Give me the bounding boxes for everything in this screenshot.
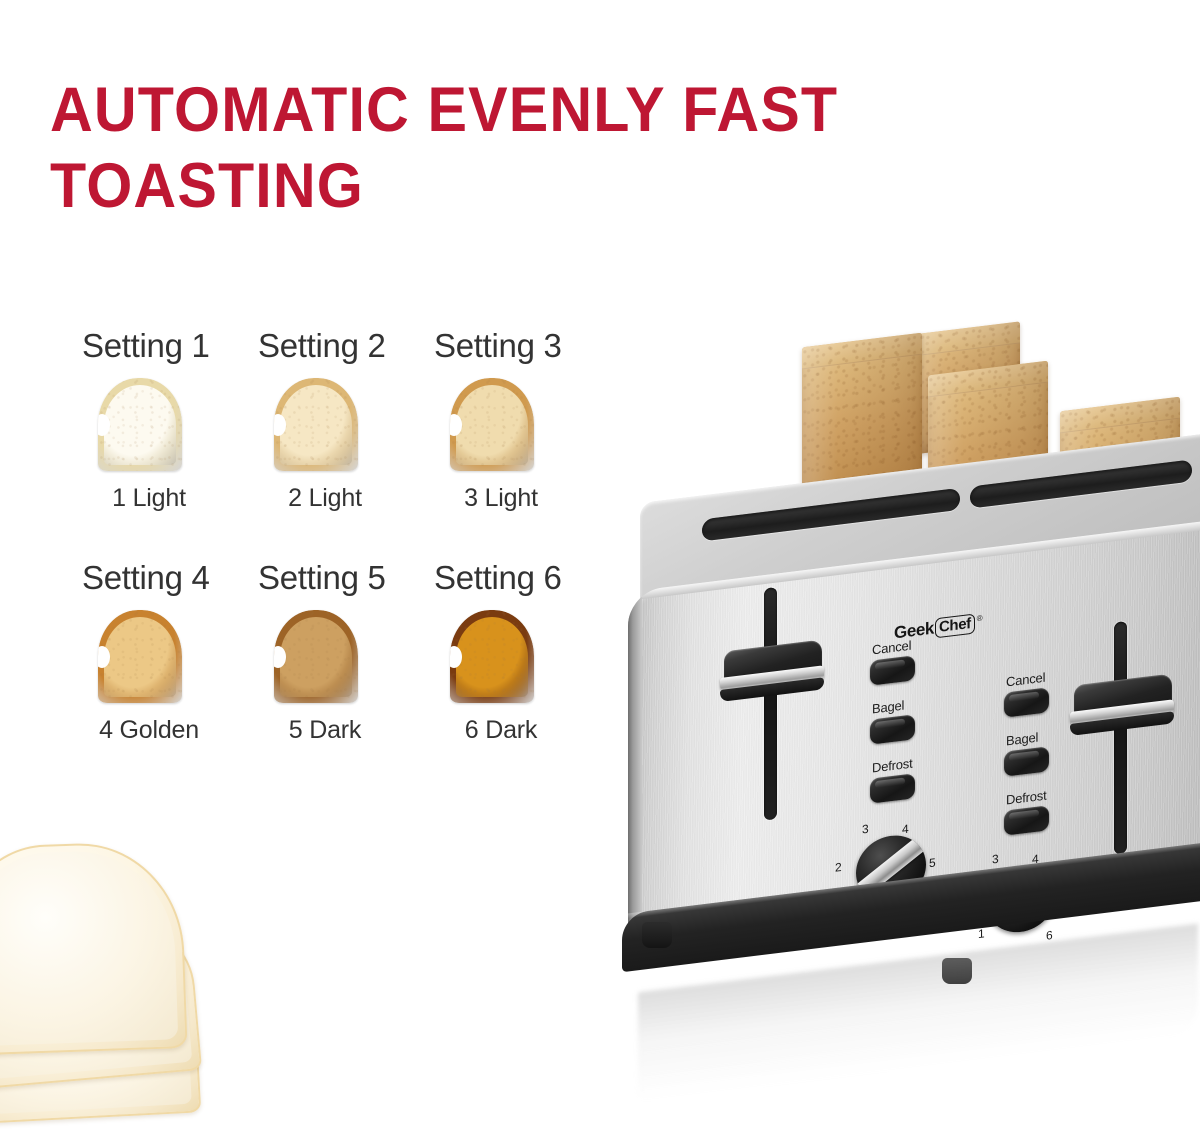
defrost-label: Defrost (1006, 787, 1049, 807)
product-feature-image: AUTOMATIC EVENLY FAST TOASTING Setting 1… (0, 0, 1200, 1147)
setting-title: Setting 2 (250, 326, 426, 366)
bread-slice-illustration-3 (442, 378, 542, 474)
cancel-button[interactable] (870, 655, 915, 686)
bagel-control-left[interactable]: Bagel (870, 696, 915, 745)
setting-sublabel: 6 Dark (426, 716, 576, 745)
toast-shade-settings-grid: Setting 1 1 Light Setting 2 2 Light Sett… (74, 326, 604, 790)
cancel-control-left[interactable]: Cancel (870, 637, 915, 686)
setting-cell-3: Setting 3 3 Light (426, 326, 602, 558)
setting-sublabel: 1 Light (74, 484, 224, 513)
bagel-button[interactable] (870, 714, 915, 745)
registered-trademark-icon: ® (977, 614, 983, 624)
control-button-group-left: Cancel Bagel Defrost (870, 637, 915, 820)
lever-track (764, 587, 777, 821)
defrost-label: Defrost (872, 755, 915, 775)
untoasted-bread-stack-photo (0, 838, 242, 1128)
setting-sublabel: 2 Light (250, 484, 400, 513)
bagel-control-right[interactable]: Bagel (1004, 728, 1049, 777)
defrost-button[interactable] (870, 773, 915, 804)
dial-number-5: 5 (929, 855, 936, 870)
setting-cell-2: Setting 2 2 Light (250, 326, 426, 558)
setting-title: Setting 6 (426, 558, 602, 598)
cancel-control-right[interactable]: Cancel (1004, 669, 1049, 718)
dial-number-3: 3 (862, 822, 869, 837)
setting-title: Setting 1 (74, 326, 250, 366)
setting-cell-6: Setting 6 6 Dark (426, 558, 602, 790)
dial-number-2: 2 (835, 860, 842, 875)
bagel-label: Bagel (872, 696, 915, 716)
setting-title: Setting 5 (250, 558, 426, 598)
dial-number-1: 1 (978, 926, 985, 941)
setting-cell-4: Setting 4 4 Golden (74, 558, 250, 790)
setting-title: Setting 4 (74, 558, 250, 598)
bagel-button[interactable] (1004, 746, 1049, 777)
toaster-product-photo: Geek Chef ® Cancel Bagel Defrost Cancel (612, 318, 1200, 1108)
setting-cell-1: Setting 1 1 Light (74, 326, 250, 558)
setting-cell-5: Setting 5 5 Dark (250, 558, 426, 790)
dial-number-4: 4 (902, 822, 909, 837)
setting-title: Setting 3 (426, 326, 602, 366)
dial-number-3: 3 (992, 852, 999, 867)
defrost-button[interactable] (1004, 805, 1049, 836)
bagel-label: Bagel (1006, 728, 1049, 748)
panel-left-edge (628, 590, 642, 964)
setting-sublabel: 3 Light (426, 484, 576, 513)
bread-slice-illustration-6 (442, 610, 542, 706)
cancel-button[interactable] (1004, 687, 1049, 718)
bread-slice-illustration-4 (90, 610, 190, 706)
toaster-slot-1[interactable] (702, 488, 960, 542)
lever-track (1114, 621, 1127, 855)
bread-slice-illustration-1 (90, 378, 190, 474)
headline-text: AUTOMATIC EVENLY FAST TOASTING (50, 72, 1046, 224)
control-button-group-right: Cancel Bagel Defrost (1004, 669, 1049, 852)
toaster-foot-left (642, 922, 672, 948)
setting-sublabel: 4 Golden (74, 716, 224, 745)
defrost-control-left[interactable]: Defrost (870, 755, 915, 804)
defrost-control-right[interactable]: Defrost (1004, 787, 1049, 836)
bread-slice-illustration-5 (266, 610, 366, 706)
bread-slice-illustration-2 (266, 378, 366, 474)
toaster-slot-2[interactable] (970, 459, 1192, 508)
bread-stack-slice-top (0, 840, 188, 1056)
setting-sublabel: 5 Dark (250, 716, 400, 745)
